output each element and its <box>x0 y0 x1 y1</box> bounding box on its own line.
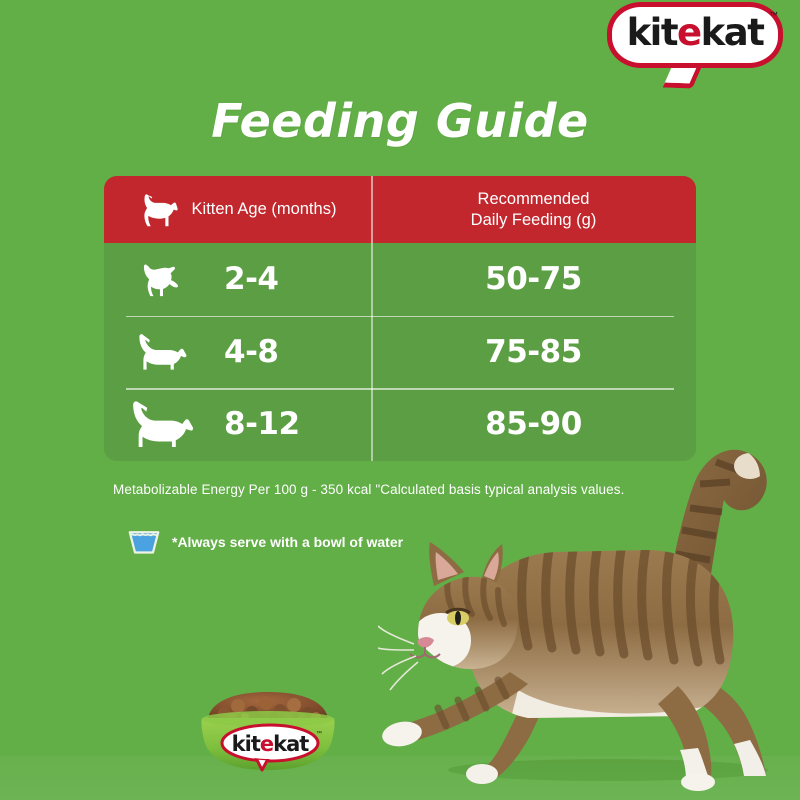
age-value: 8-12 <box>222 406 371 442</box>
svg-text:kitekat: kitekat <box>232 732 310 756</box>
kitten-medium-icon <box>104 332 222 372</box>
table-header-amount: Recommended Daily Feeding (g) <box>371 176 696 243</box>
table-row: 4-8 75-85 <box>104 316 696 389</box>
kitekat-logo: kitekat ™ <box>607 2 787 88</box>
table-header-age: Kitten Age (months) <box>104 176 371 243</box>
cat-icon <box>139 193 179 227</box>
table-header-amount-line1: Recommended <box>471 189 597 210</box>
table-header-amount-line2: Daily Feeding (g) <box>471 210 597 231</box>
logo-text-after: kat <box>701 11 764 54</box>
water-bowl-icon <box>126 527 162 557</box>
table-cell-age: 8-12 <box>104 388 371 461</box>
table-header-age-label: Kitten Age (months) <box>192 199 337 220</box>
svg-text:™: ™ <box>316 730 322 737</box>
table-cell-age: 2-4 <box>104 243 371 316</box>
page-title: Feeding Guide <box>0 94 800 148</box>
logo-wordmark: kitekat <box>607 2 783 68</box>
header-column-divider <box>371 176 373 243</box>
water-note-label: *Always serve with a bowl of water <box>172 534 403 550</box>
table-row: 2-4 50-75 <box>104 243 696 316</box>
age-value: 4-8 <box>222 334 371 370</box>
logo-text-highlight: e <box>677 11 701 54</box>
amount-value: 75-85 <box>371 316 696 389</box>
kitten-small-icon <box>104 261 222 297</box>
row-column-divider <box>371 388 373 461</box>
feeding-guide-poster: kitekat ™ Feeding Guide Kitten Age (mont… <box>0 0 800 800</box>
row-column-divider <box>371 316 373 389</box>
water-note: *Always serve with a bowl of water <box>126 527 403 557</box>
row-column-divider <box>371 243 373 316</box>
age-value: 2-4 <box>222 261 371 297</box>
amount-value: 50-75 <box>371 243 696 316</box>
table-header-row: Kitten Age (months) Recommended Daily Fe… <box>104 176 696 243</box>
table-cell-age: 4-8 <box>104 316 371 389</box>
kitekat-food-bowl: kitekat ™ <box>188 690 348 776</box>
logo-text-before: kit <box>627 11 677 54</box>
trademark-symbol: ™ <box>769 10 778 20</box>
kitten-large-icon <box>104 399 222 449</box>
tabby-cat-walking-photo <box>378 418 800 800</box>
